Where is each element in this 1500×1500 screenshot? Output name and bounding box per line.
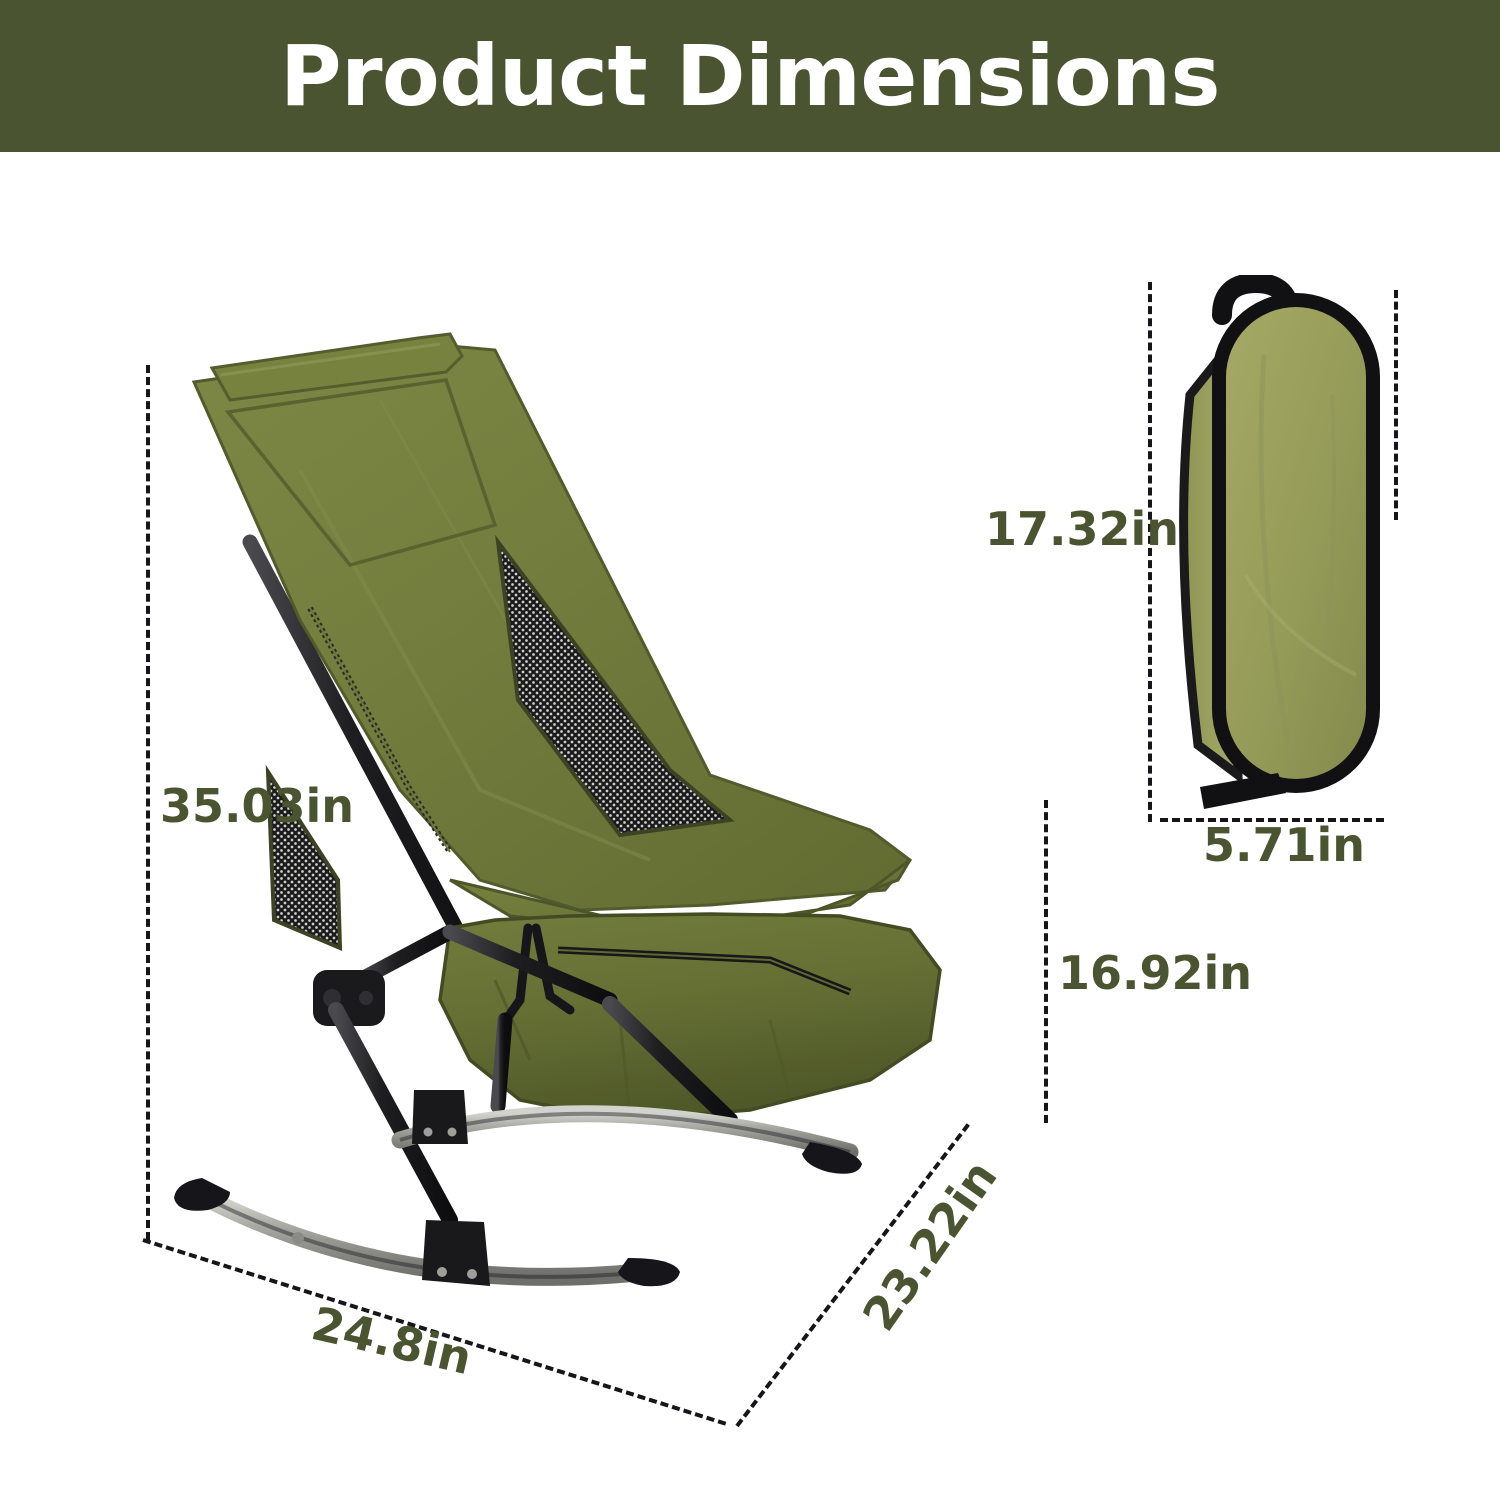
- header-banner: Product Dimensions: [0, 0, 1500, 152]
- bag-main-body: [1212, 293, 1380, 793]
- page-title: Product Dimensions: [280, 34, 1220, 118]
- product-dimensions-infographic: Product Dimensions: [0, 0, 1500, 1500]
- dimension-label-chair-height: 35.03in: [160, 783, 354, 829]
- guide-line-chair-seat-height: [1044, 800, 1048, 1123]
- dimension-label-bag-width: 5.71in: [1203, 822, 1365, 868]
- bag-bottom-strap: [1200, 773, 1286, 809]
- dimension-label-seat-height: 16.92in: [1058, 950, 1252, 996]
- carry-bag-illustration: [1160, 275, 1400, 820]
- dimension-label-bag-height: 17.32in: [985, 506, 1179, 552]
